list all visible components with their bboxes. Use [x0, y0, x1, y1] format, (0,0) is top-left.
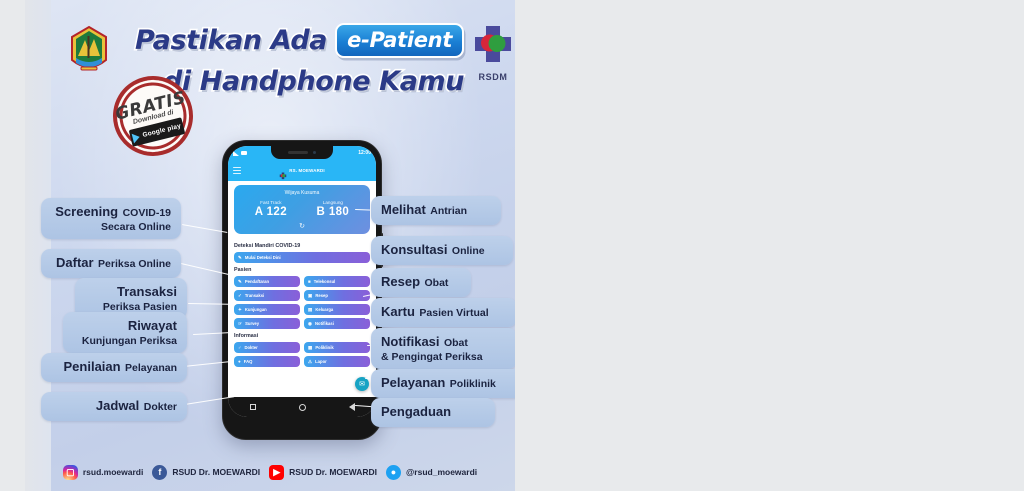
app-brand-label: RS. MOEWARDI — [289, 168, 325, 173]
check-icon: ✓ — [238, 293, 242, 299]
building-icon: ▦ — [308, 345, 312, 351]
central-java-emblem — [66, 24, 112, 76]
callout-normal: Pasien Virtual — [419, 307, 488, 319]
social-youtube[interactable]: ▶ RSUD Dr. MOEWARDI — [269, 465, 377, 480]
callout-normal: Antrian — [430, 205, 467, 217]
menu-item-label: Survey — [245, 321, 259, 326]
queue-langsung-label: Langsung — [317, 200, 350, 205]
callout-line: Melihat Antrian — [381, 201, 491, 219]
e-patient-badge: e-Patient — [335, 23, 464, 58]
phone-notch — [271, 146, 333, 159]
screenshot-root: Pastikan Ada e-Patient di Handphone Kamu… — [0, 0, 1024, 491]
callout-jadwal[interactable]: Jadwal Dokter — [41, 392, 187, 421]
callout-normal: Poliklinik — [450, 378, 496, 390]
menu-item-label: Dokter — [244, 345, 257, 350]
callout-strong: Daftar — [56, 255, 94, 270]
callout-riwayat[interactable]: Riwayat Kunjungan Periksa — [63, 312, 187, 353]
callout-strong: Penilaian — [64, 359, 121, 374]
thumb-icon: ☞ — [238, 321, 242, 327]
pencil-icon: ✎ — [238, 255, 242, 261]
callout-line: Resep Obat — [381, 273, 461, 291]
rsdm-mark-icon — [279, 167, 287, 175]
connector-line — [182, 224, 228, 233]
bag-icon: ▣ — [308, 293, 312, 299]
callout-strong: Notifikasi — [381, 334, 440, 349]
social-instagram[interactable]: ▢ rsud.moewardi — [63, 465, 143, 480]
square-icon[interactable] — [250, 404, 256, 410]
status-indicators — [233, 151, 247, 156]
rsdm-label: RSDM — [469, 72, 515, 82]
menu-item-label: Notifikasi — [315, 321, 334, 326]
queue-fast-track: Fast Track A 122 — [255, 200, 287, 218]
poster-canvas: Pastikan Ada e-Patient di Handphone Kamu… — [25, 0, 515, 491]
callout-strong: Transaksi — [117, 284, 177, 299]
rsdm-cross-icon — [471, 24, 515, 66]
menu-item-resep[interactable]: ▣ Resep — [304, 290, 370, 301]
callout-kartu[interactable]: Kartu Pasien Virtual — [371, 298, 515, 327]
signal-icon — [233, 151, 239, 156]
callout-strong: Resep — [381, 274, 420, 289]
facebook-icon: f — [152, 465, 167, 480]
report-icon: ⚠ — [308, 359, 312, 365]
phone-screen: 12:00 RS. MOEWARDI — [228, 146, 376, 417]
callout-strong: Melihat — [381, 202, 426, 217]
people-icon: ▤ — [308, 307, 312, 313]
menu-item-dokter[interactable]: ♂ Dokter — [234, 342, 300, 353]
queue-room-name: Wijaya Kusuma — [240, 190, 364, 196]
google-play-icon — [132, 131, 141, 142]
callout-screening[interactable]: Screening COVID-19 Secara Online — [41, 198, 181, 239]
headline-text-pastikan-ada: Pastikan Ada — [135, 25, 327, 56]
battery-icon — [241, 151, 247, 155]
callout-strong: Pengaduan — [381, 404, 451, 419]
callout-sub: & Pengingat Periksa — [381, 351, 507, 363]
youtube-icon: ▶ — [269, 465, 284, 480]
camera-icon — [313, 151, 317, 155]
queue-row: Fast Track A 122 Langsung B 180 — [240, 200, 364, 218]
callout-line: Pengaduan — [381, 403, 485, 421]
android-nav-bar — [228, 397, 376, 417]
callout-line: Pelayanan Poliklinik — [381, 374, 513, 392]
callout-normal: Periksa Online — [98, 258, 171, 270]
phone-mockup: 12:00 RS. MOEWARDI — [222, 140, 382, 440]
menu-item-label: Poliklinik — [315, 345, 333, 350]
menu-grid-pasien: ✎ Pendaftaran ■ Telekonsul ✓ Transaksi ▣… — [234, 276, 370, 329]
speaker-icon — [288, 151, 308, 154]
callout-line: Penilaian Pelayanan — [51, 358, 177, 376]
social-footer: ▢ rsud.moewardi f RSUD Dr. MOEWARDI ▶ RS… — [25, 459, 515, 485]
menu-item-poliklinik[interactable]: ▦ Poliklinik — [304, 342, 370, 353]
menu-item-telekonsul[interactable]: ■ Telekonsul — [304, 276, 370, 287]
menu-item-label: Telekonsul — [314, 279, 336, 284]
app-menu-body: Deteksi Mandiri COVID-19 ✎ Mulai Deteksi… — [228, 234, 376, 367]
star-icon: ✦ — [238, 307, 242, 313]
instagram-icon: ▢ — [63, 465, 78, 480]
back-icon[interactable] — [349, 403, 355, 411]
menu-item-kunjungan[interactable]: ✦ Kunjungan — [234, 304, 300, 315]
callout-resep[interactable]: Resep Obat — [371, 268, 471, 297]
queue-hero-card: Wijaya Kusuma Fast Track A 122 Langsung … — [234, 185, 370, 234]
callout-normal: Pelayanan — [125, 362, 177, 374]
queue-fast-track-label: Fast Track — [255, 200, 287, 205]
callout-line: Jadwal Dokter — [51, 397, 177, 415]
callout-pengaduan[interactable]: Pengaduan — [371, 398, 495, 427]
menu-item-label: Resep — [315, 293, 328, 298]
bell-icon: ◉ — [308, 321, 312, 327]
callout-line: Screening COVID-19 — [51, 203, 171, 221]
callout-strong: Riwayat — [128, 318, 177, 333]
headline-line-1: Pastikan Ada e-Patient — [135, 18, 455, 62]
callout-strong: Jadwal — [96, 398, 139, 413]
callout-strong: Screening — [55, 204, 118, 219]
doctor-icon: ♂ — [238, 345, 241, 350]
queue-langsung-value: B 180 — [317, 206, 350, 218]
callout-daftar[interactable]: Daftar Periksa Online — [41, 249, 181, 278]
section-title-covid: Deteksi Mandiri COVID-19 — [234, 243, 370, 249]
menu-item-mulai-deteksi-dini[interactable]: ✎ Mulai Deteksi Dini — [234, 252, 370, 263]
callout-pelayanan[interactable]: Pelayanan Poliklinik — [371, 369, 515, 398]
menu-item-transaksi[interactable]: ✓ Transaksi — [234, 290, 300, 301]
status-clock: 12:00 — [358, 150, 371, 156]
app-brand: RS. MOEWARDI — [228, 167, 376, 175]
callout-strong: Kartu — [381, 304, 415, 319]
social-facebook[interactable]: f RSUD Dr. MOEWARDI — [152, 465, 260, 480]
info-icon: ● — [238, 359, 241, 364]
e-patient-badge-label: e-Patient — [347, 28, 452, 52]
social-handle: RSUD Dr. MOEWARDI — [289, 467, 377, 477]
menu-item-survey[interactable]: ☞ Survey — [234, 318, 300, 329]
circle-icon[interactable] — [299, 404, 306, 411]
callout-line: Daftar Periksa Online — [51, 254, 171, 272]
callout-line: Notifikasi Obat — [381, 333, 507, 351]
callout-line: Transaksi — [85, 283, 177, 301]
app-bar: RS. MOEWARDI — [228, 160, 376, 181]
menu-item-label: Keluarga — [315, 307, 333, 312]
menu-item-label: FAQ — [244, 359, 253, 364]
refresh-icon[interactable]: ↻ — [240, 222, 364, 230]
callout-notifikasi[interactable]: Notifikasi Obat & Pengingat Periksa — [371, 328, 515, 369]
menu-item-label: Mulai Deteksi Dini — [245, 255, 281, 260]
menu-grid-informasi: ♂ Dokter ▦ Poliklinik ● FAQ ⚠ Lapor — [234, 342, 370, 367]
social-twitter[interactable]: ● @rsud_moewardi — [386, 465, 477, 480]
callout-strong: Konsultasi — [381, 242, 447, 257]
callout-sub: Kunjungan Periksa — [73, 335, 177, 347]
menu-item-pendaftaran[interactable]: ✎ Pendaftaran — [234, 276, 300, 287]
menu-item-lapor[interactable]: ⚠ Lapor — [304, 356, 370, 367]
queue-langsung: Langsung B 180 — [317, 200, 350, 218]
callout-normal: Obat — [444, 337, 468, 349]
callout-normal: Dokter — [144, 401, 177, 413]
social-handle: @rsud_moewardi — [406, 467, 477, 477]
callout-konsultasi[interactable]: Konsultasi Online — [371, 236, 513, 265]
menu-item-notifikasi[interactable]: ◉ Notifikasi — [304, 318, 370, 329]
callout-line: Riwayat — [73, 317, 177, 335]
callout-strong: Pelayanan — [381, 375, 445, 390]
menu-item-faq[interactable]: ● FAQ — [234, 356, 300, 367]
section-title-informasi: Informasi — [234, 333, 370, 339]
rsdm-logo: RSDM — [469, 24, 515, 80]
headline-text-di-handphone-kamu: di Handphone Kamu — [163, 66, 464, 97]
callout-melihat-antrian[interactable]: Melihat Antrian — [371, 196, 501, 225]
menu-item-label: Transaksi — [245, 293, 264, 298]
chat-icon: ■ — [308, 279, 311, 284]
callout-normal: COVID-19 — [123, 207, 171, 219]
twitter-icon: ● — [386, 465, 401, 480]
callout-line: Konsultasi Online — [381, 241, 503, 259]
callout-line: Kartu Pasien Virtual — [381, 303, 507, 321]
callout-normal: Online — [452, 245, 485, 257]
menu-item-label: Lapor — [315, 359, 327, 364]
queue-fast-track-value: A 122 — [255, 206, 287, 218]
pencil-icon: ✎ — [238, 279, 242, 285]
social-handle: rsud.moewardi — [83, 467, 143, 477]
menu-item-label: Pendaftaran — [245, 279, 269, 284]
callout-normal: Obat — [424, 277, 448, 289]
callout-penilaian[interactable]: Penilaian Pelayanan — [41, 353, 187, 382]
social-handle: RSUD Dr. MOEWARDI — [172, 467, 260, 477]
menu-item-keluarga[interactable]: ▤ Keluarga — [304, 304, 370, 315]
section-title-pasien: Pasien — [234, 267, 370, 273]
menu-item-label: Kunjungan — [245, 307, 267, 312]
callout-sub: Secara Online — [51, 221, 171, 233]
